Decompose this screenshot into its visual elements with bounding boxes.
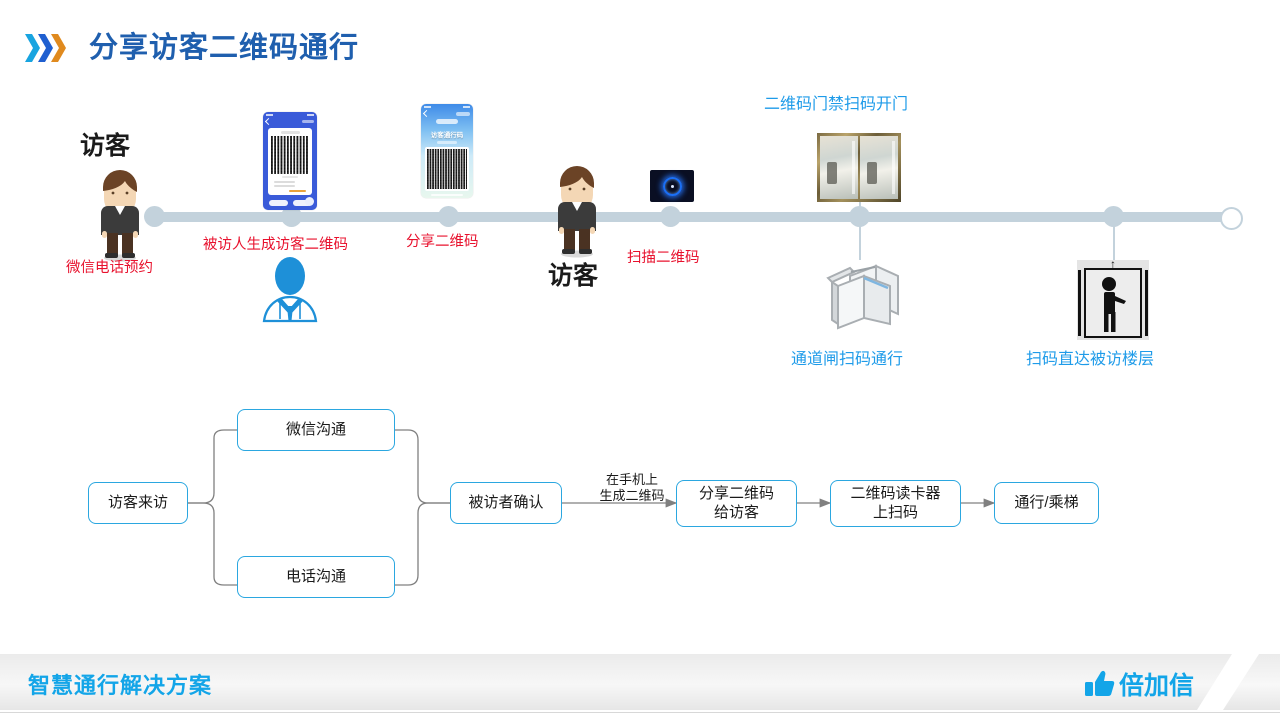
flow-edge-label-generate-qr: 在手机上 生成二维码 (586, 472, 678, 503)
elevator-image: ↑ (1077, 260, 1149, 340)
timeline-node-4[interactable] (660, 206, 681, 227)
timeline-label-7: 扫码直达被访楼层 (1026, 345, 1154, 369)
elevator-person-icon (1086, 270, 1140, 336)
scan-reader-line1: 二维码读卡器 (850, 485, 940, 504)
brand-logo: 倍加信 (1085, 666, 1194, 702)
timeline-track (145, 212, 1230, 222)
visitor-person-icon-1 (92, 167, 148, 262)
edge-label-line2: 生成二维码 (586, 488, 678, 504)
brand-name: 倍加信 (1119, 666, 1194, 702)
actor-label-visitor-2: 访客 (548, 256, 598, 292)
host-avatar-icon (258, 256, 322, 328)
footer-solution-text: 智慧通行解决方案 (28, 668, 212, 700)
thumbs-up-icon (1085, 670, 1115, 698)
timeline-stem-door (859, 200, 861, 214)
glass-door-image (817, 133, 901, 202)
phone1-floating-button[interactable] (305, 197, 314, 206)
flow-node-pass-or-ride[interactable]: 通行/乘梯 (994, 482, 1099, 524)
timeline-node-end[interactable] (1220, 207, 1243, 230)
timeline-label-1: 微信电话预约 (66, 256, 153, 277)
timeline-label-2: 被访人生成访客二维码 (203, 233, 348, 254)
share-qr-line2: 给访客 (714, 504, 759, 523)
slide-footer: 智慧通行解决方案 倍加信 (0, 654, 1280, 720)
flow-node-phone-contact[interactable]: 电话沟通 (237, 556, 395, 598)
scan-reader-line2: 上扫码 (873, 504, 918, 523)
flow-node-host-confirm[interactable]: 被访者确认 (450, 482, 562, 524)
elevator-cab: ↑ (1084, 268, 1142, 338)
timeline-label-3: 分享二维码 (406, 230, 479, 251)
visitor-qr-generate-phone (263, 112, 317, 210)
visitor-pass-code-phone: 访客通行码 (421, 104, 473, 198)
phone2-top-chip (436, 119, 459, 124)
flow-node-wechat-contact[interactable]: 微信沟通 (237, 409, 395, 451)
phone2-subtitle (437, 141, 458, 144)
qr-code-image-1 (271, 136, 309, 174)
phone2-title: 访客通行码 (421, 129, 473, 139)
timeline-stem-elevator (1113, 218, 1115, 262)
qr-scanner-device-icon (650, 170, 694, 202)
chevron-group-icon (24, 28, 63, 68)
footer-right-panel (1223, 654, 1280, 710)
phone1-navbar (263, 118, 317, 125)
page-title: 分享访客二维码通行 (89, 34, 359, 63)
edge-label-line1: 在手机上 (586, 472, 678, 488)
timeline-label-5: 二维码门禁扫码开门 (764, 90, 908, 114)
visitor-person-icon-2 (549, 163, 605, 258)
up-arrow-icon: ↑ (1110, 258, 1116, 270)
slide-header: 分享访客二维码通行 (0, 22, 1280, 74)
timeline-label-4: 扫描二维码 (627, 246, 700, 267)
flow-node-scan-reader[interactable]: 二维码读卡器 上扫码 (830, 480, 961, 527)
phone2-navbar (421, 110, 473, 117)
flow-node-visitor-arrival[interactable]: 访客来访 (88, 482, 188, 524)
phone1-qr-card (268, 128, 312, 195)
actor-label-visitor-1: 访客 (80, 126, 130, 162)
turnstile-gate-image (820, 258, 910, 330)
timeline-node-3[interactable] (438, 206, 459, 227)
slide-root: 分享访客二维码通行 访客 微信电话预约 (0, 0, 1280, 720)
footer-baseline (0, 712, 1280, 713)
flow-node-share-qr[interactable]: 分享二维码 给访客 (676, 480, 797, 527)
timeline-stem-gate (859, 218, 861, 260)
chevron-right-icon-3 (50, 33, 67, 63)
share-qr-line1: 分享二维码 (699, 485, 774, 504)
qr-code-image-2 (427, 149, 467, 189)
timeline-label-6: 通道闸扫码通行 (791, 345, 903, 369)
